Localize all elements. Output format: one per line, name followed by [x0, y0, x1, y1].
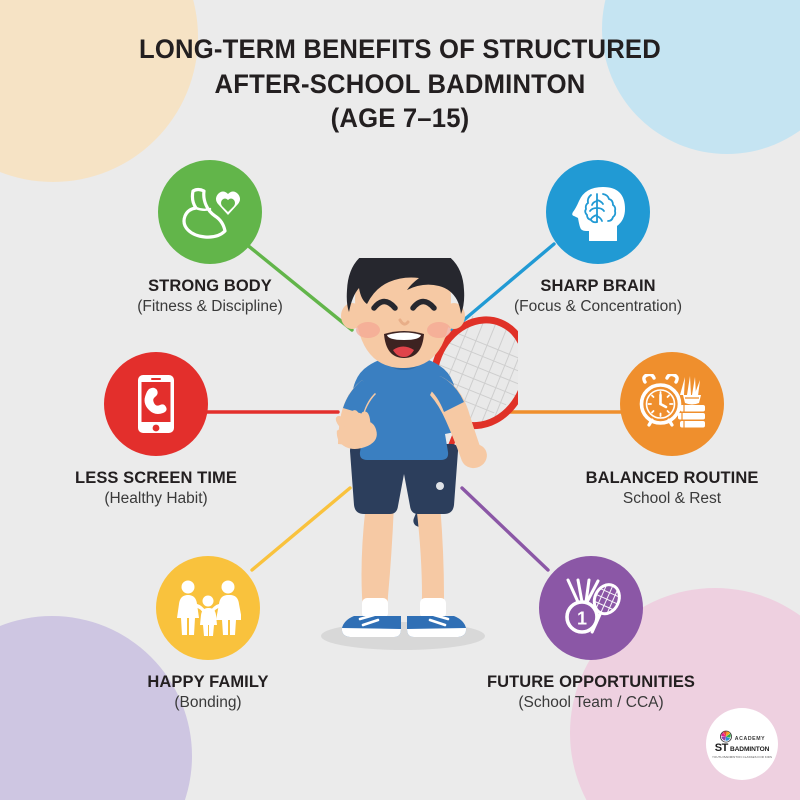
logo-wordmark: ST BADMINTON — [715, 743, 770, 754]
logo-row: ACADEMY — [719, 729, 765, 743]
benefit-circle-balanced-routine[interactable] — [620, 352, 724, 456]
benefit-node-future-opportunities[interactable]: 1 FUTURE OPPORTUNITIES (School Team / CC… — [478, 556, 704, 712]
title-line-2: AFTER-SCHOOL BADMINTON — [20, 67, 780, 102]
benefit-node-sharp-brain[interactable]: SHARP BRAIN (Focus & Concentration) — [490, 160, 706, 316]
benefit-sub-balanced-routine: School & Rest — [560, 490, 784, 508]
logo-mark-icon — [719, 729, 733, 743]
bicep-heart-icon — [179, 185, 241, 239]
benefit-sub-happy-family: (Bonding) — [100, 694, 316, 712]
benefit-circle-happy-family[interactable] — [156, 556, 260, 660]
logo-st-text: ST — [715, 743, 728, 754]
benefit-circle-strong-body[interactable] — [158, 160, 262, 264]
medal-racket-icon: 1 — [558, 577, 624, 639]
benefit-label-less-screen-time: LESS SCREEN TIME — [47, 468, 264, 488]
page-title: LONG-TERM BENEFITS OF STRUCTURED AFTER-S… — [0, 32, 800, 136]
benefit-circle-sharp-brain[interactable] — [546, 160, 650, 264]
shuttlecock — [680, 376, 701, 405]
title-line-3: (AGE 7–15) — [20, 101, 780, 136]
alarm-clock — [642, 374, 680, 425]
title-line-1: LONG-TERM BENEFITS OF STRUCTURED — [20, 32, 780, 67]
benefit-sub-sharp-brain: (Focus & Concentration) — [490, 298, 706, 316]
books — [678, 405, 705, 428]
brand-logo-badge[interactable]: ACADEMY ST BADMINTON YOUTH BADMINTON CLA… — [706, 708, 778, 780]
benefit-node-balanced-routine[interactable]: BALANCED ROUTINE School & Rest — [560, 352, 784, 508]
clock-books-shuttlecock-icon — [639, 374, 705, 434]
benefit-label-future-opportunities: FUTURE OPPORTUNITIES — [481, 672, 700, 692]
infographic-canvas: LONG-TERM BENEFITS OF STRUCTURED AFTER-S… — [0, 0, 800, 800]
logo-academy-text: ACADEMY — [735, 736, 765, 742]
logo-badminton-text: BADMINTON — [730, 747, 769, 754]
benefit-circle-future-opportunities[interactable]: 1 — [539, 556, 643, 660]
benefit-sub-strong-body: (Fitness & Discipline) — [102, 298, 318, 316]
logo-tagline: YOUTH BADMINTON CLASSES FOR KIDS — [712, 755, 772, 759]
benefit-label-happy-family: HAPPY FAMILY — [103, 672, 313, 692]
benefit-label-strong-body: STRONG BODY — [105, 276, 315, 296]
benefit-sub-less-screen-time: (Healthy Habit) — [44, 490, 268, 508]
smartphone-icon — [134, 373, 178, 435]
head-brain-icon — [569, 183, 627, 241]
benefit-sub-future-opportunities: (School Team / CCA) — [478, 694, 704, 712]
benefit-label-balanced-routine: BALANCED ROUTINE — [563, 468, 780, 488]
benefit-circle-less-screen-time[interactable] — [104, 352, 208, 456]
benefit-node-less-screen-time[interactable]: LESS SCREEN TIME (Healthy Habit) — [44, 352, 268, 508]
medal-number: 1 — [577, 609, 587, 629]
benefit-label-sharp-brain: SHARP BRAIN — [493, 276, 703, 296]
shoe-left — [342, 615, 401, 637]
benefit-node-happy-family[interactable]: HAPPY FAMILY (Bonding) — [100, 556, 316, 712]
benefit-node-strong-body[interactable]: STRONG BODY (Fitness & Discipline) — [102, 160, 318, 316]
family-icon — [175, 579, 241, 637]
shoe-right — [407, 615, 466, 637]
